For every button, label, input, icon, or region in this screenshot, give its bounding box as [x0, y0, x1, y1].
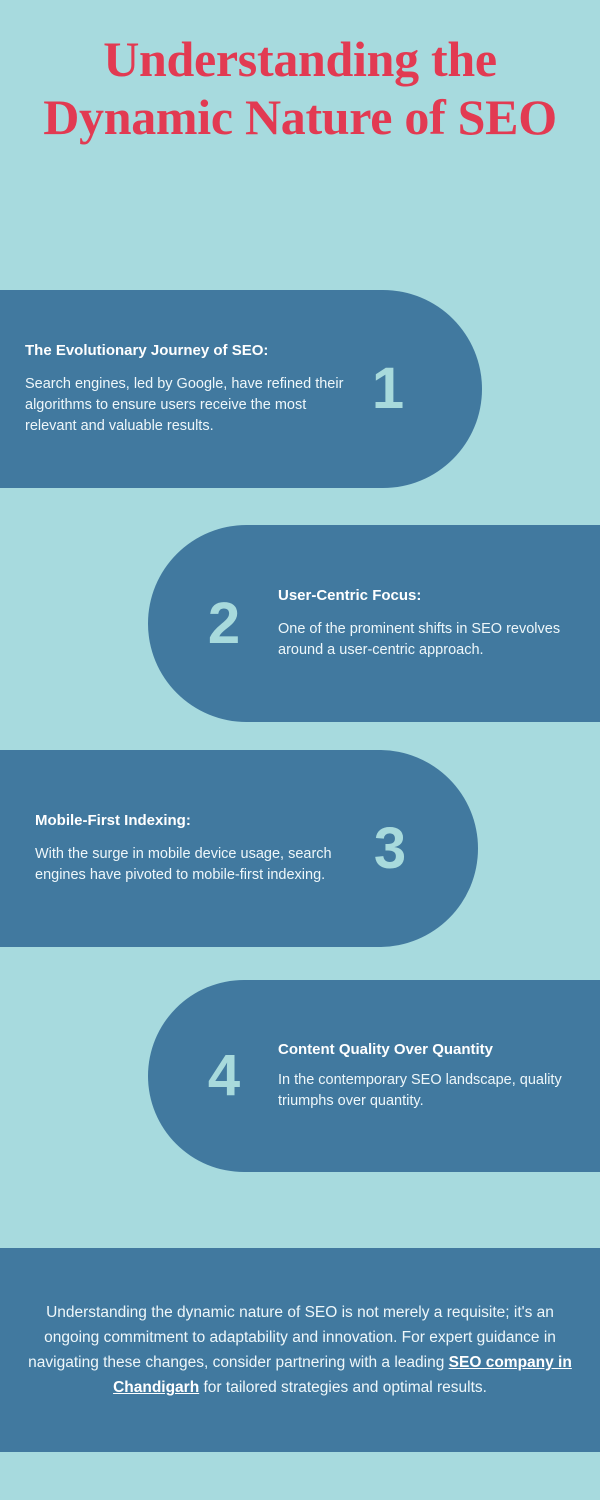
step-card-2-number: 2	[186, 595, 262, 653]
step-card-1-text: The Evolutionary Journey of SEO: Search …	[25, 341, 345, 438]
step-card-3-text: Mobile-First Indexing: With the surge in…	[35, 811, 345, 887]
step-card-2-heading: User-Centric Focus:	[278, 586, 567, 606]
step-card-3-number: 3	[345, 820, 435, 878]
step-card-1-body: Search engines, led by Google, have refi…	[25, 374, 345, 437]
page-title: Understanding the Dynamic Nature of SEO	[40, 30, 560, 146]
footer-text-after: for tailored strategies and optimal resu…	[199, 1379, 487, 1396]
step-card-4-body: In the contemporary SEO landscape, quali…	[278, 1070, 567, 1112]
footer-paragraph: Understanding the dynamic nature of SEO …	[22, 1300, 578, 1400]
step-card-3: Mobile-First Indexing: With the surge in…	[0, 750, 478, 947]
step-card-1-number: 1	[345, 360, 431, 418]
step-card-2: 2 User-Centric Focus: One of the promine…	[148, 525, 600, 722]
step-card-1: The Evolutionary Journey of SEO: Search …	[0, 290, 482, 488]
step-card-3-heading: Mobile-First Indexing:	[35, 811, 345, 831]
step-card-4: 4 Content Quality Over Quantity In the c…	[148, 980, 600, 1172]
step-card-1-heading: The Evolutionary Journey of SEO:	[25, 341, 345, 361]
step-card-2-body: One of the prominent shifts in SEO revol…	[278, 619, 567, 661]
step-card-3-body: With the surge in mobile device usage, s…	[35, 844, 345, 886]
step-card-4-heading: Content Quality Over Quantity	[278, 1040, 567, 1060]
footer-banner: Understanding the dynamic nature of SEO …	[0, 1248, 600, 1452]
page-title-block: Understanding the Dynamic Nature of SEO	[0, 30, 600, 146]
step-card-4-text: Content Quality Over Quantity In the con…	[262, 1040, 567, 1112]
step-card-4-number: 4	[186, 1047, 262, 1105]
step-card-2-text: User-Centric Focus: One of the prominent…	[262, 586, 567, 662]
